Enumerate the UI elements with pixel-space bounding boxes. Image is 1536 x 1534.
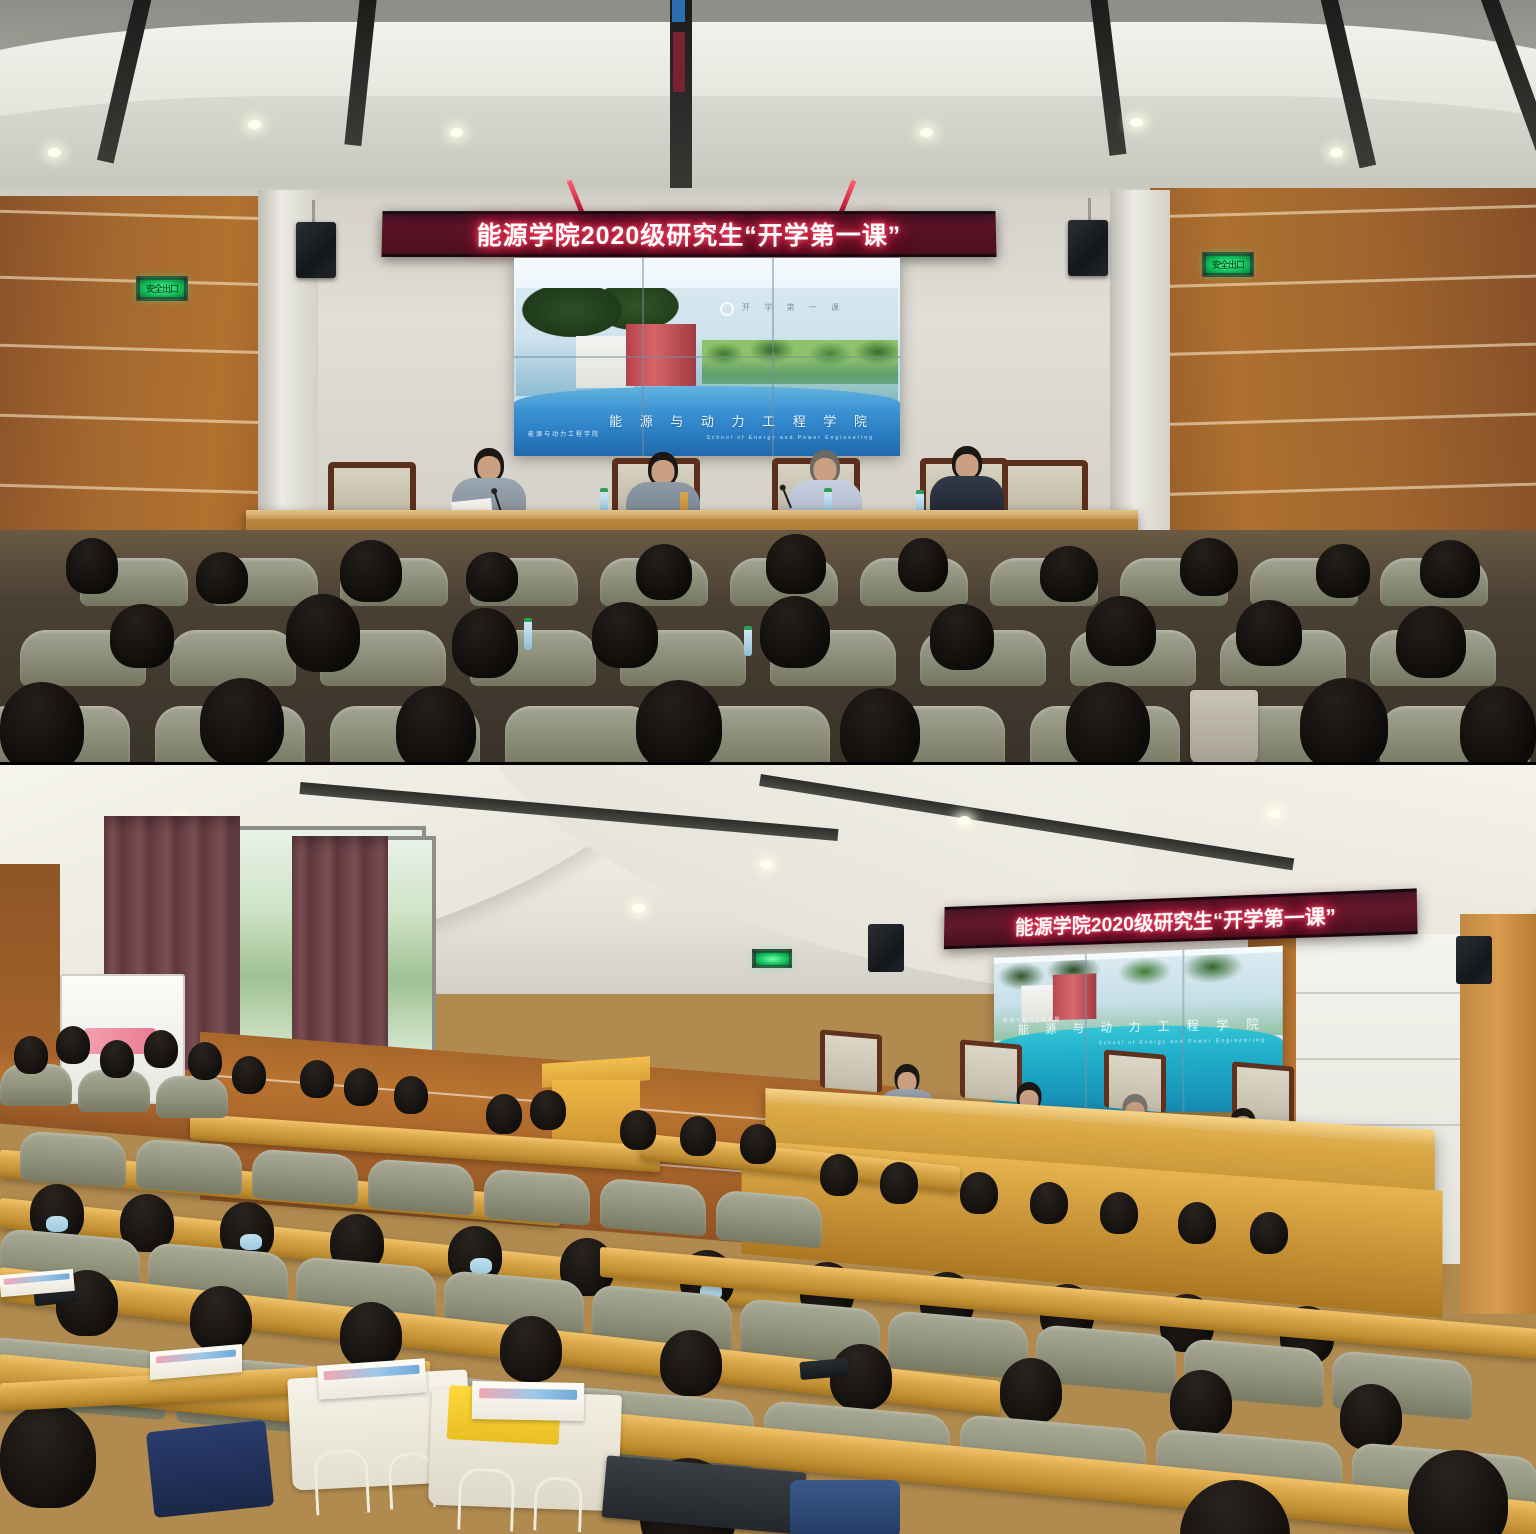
exit-sign-right-label: 安全出口 — [1206, 256, 1250, 273]
screen-heading-cn: 能 源 与 动 力 工 程 学 院 — [609, 411, 874, 430]
screen-logo-icon — [720, 302, 734, 316]
audience-photo1 — [0, 530, 1536, 764]
screen2-left-label: 能源与动力工程学院 — [1003, 1016, 1061, 1024]
speaker-mount-left — [312, 200, 315, 222]
downlight — [48, 148, 61, 157]
downlight — [632, 904, 645, 913]
bag-foreground — [790, 1480, 900, 1534]
downlight — [1330, 148, 1343, 157]
led-banner-photo1: 能源学院2020级研究生“开学第一课” — [381, 211, 996, 257]
exit-sign-photo2 — [752, 949, 792, 968]
downlight — [1268, 809, 1281, 818]
backpack — [146, 1420, 274, 1518]
downlight — [920, 128, 933, 137]
wall-speaker-photo2-left — [868, 924, 904, 972]
wall-speaker-left — [296, 222, 336, 278]
panel-chair-empty-right — [1000, 460, 1088, 514]
video-wall-photo1: 开 学 第 一 课 能 源 与 动 力 工 程 学 院 School of En… — [514, 258, 900, 456]
photo-divider — [0, 762, 1536, 765]
led-banner-text-photo2: 能源学院2020级研究生“开学第一课” — [1015, 899, 1336, 939]
exit-sign-left: 安全出口 — [136, 276, 188, 301]
ceiling-slot-3 — [670, 0, 692, 211]
photo-top-front-view: 安全出口 安全出口 能源学院2020级研究生“开学第一课” 开 学 第 一 课 … — [0, 0, 1536, 764]
photo-bottom-side-view: 能源学院2020级研究生“开学第一课” 能 源 与 动 力 工 程 学 院 Sc… — [0, 764, 1536, 1534]
downlight — [1130, 118, 1143, 127]
exit-sign-left-label: 安全出口 — [140, 280, 184, 297]
panel-chair-empty-left — [328, 462, 416, 516]
downlight — [450, 128, 463, 137]
bag-on-seat — [1190, 690, 1258, 764]
wall-speaker-photo2-right — [1456, 936, 1492, 984]
led-banner-text-photo1: 能源学院2020级研究生“开学第一课” — [476, 216, 901, 252]
speaker-mount-right — [1088, 198, 1091, 220]
screen-left-label: 能源与动力工程学院 — [528, 429, 600, 438]
downlight — [958, 816, 971, 825]
screen-subtitle-en: School of Energy and Power Engineering — [707, 435, 874, 441]
exit-sign-right: 安全出口 — [1202, 252, 1254, 277]
downlight — [760, 860, 773, 869]
two-panel-photo-composite: 安全出口 安全出口 能源学院2020级研究生“开学第一课” 开 学 第 一 课 … — [0, 0, 1536, 1534]
exit-sign-photo2-label — [756, 953, 789, 965]
downlight — [248, 120, 261, 129]
wall-speaker-right — [1068, 220, 1108, 276]
booklet-on-tote-2 — [472, 1381, 585, 1421]
screen-top-label: 开 学 第 一 课 — [742, 302, 845, 313]
